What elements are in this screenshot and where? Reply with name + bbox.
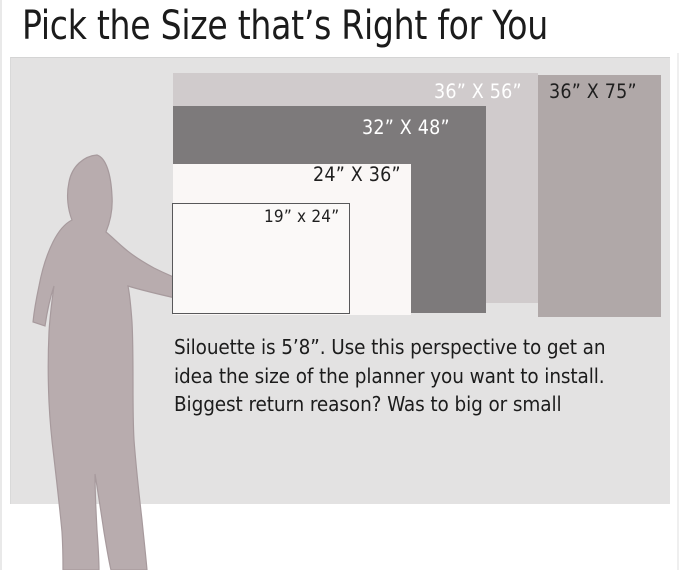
title-bar: Pick the Size that’s Right for You [2,0,679,53]
size-label-32x48: 32” X 48” [362,118,450,137]
size-label-36x56: 36” X 56” [434,82,522,101]
size-label-24x36: 24” X 36” [313,165,401,184]
size-label-36x75: 36” X 75” [549,82,637,101]
page-title: Pick the Size that’s Right for You [22,1,611,51]
caption-line-3: Biggest return reason? Was to big or sma… [174,390,654,419]
size-label-19x24: 19” x 24” [264,208,339,227]
caption-line-2: idea the size of the planner you want to… [174,362,654,391]
caption-text-block: Silouette is 5’8”. Use this perspective … [174,333,654,419]
caption-line-1: Silouette is 5’8”. Use this perspective … [174,333,654,362]
size-comparison-infographic: Pick the Size that’s Right for You 36” X… [0,0,679,570]
size-rect-36x75[interactable] [538,75,661,317]
